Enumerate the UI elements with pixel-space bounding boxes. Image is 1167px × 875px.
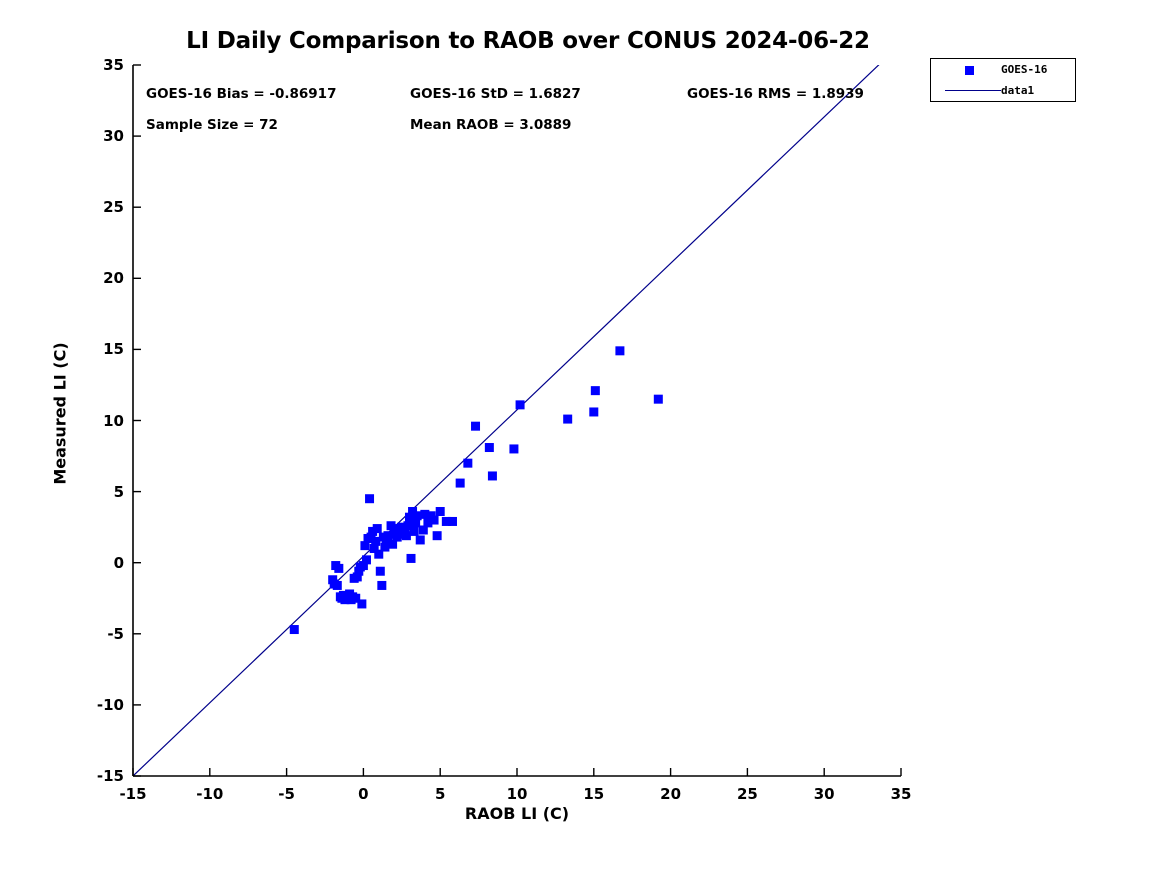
data-point[interactable] <box>433 531 442 540</box>
data-point[interactable] <box>456 479 465 488</box>
data-point[interactable] <box>413 511 422 520</box>
legend-line-icon <box>945 90 1001 91</box>
reference-line <box>133 44 901 776</box>
legend-sample <box>939 59 997 81</box>
x-tick-label: 5 <box>410 785 470 803</box>
legend-box[interactable]: GOES-16data1 <box>930 58 1076 102</box>
data-point[interactable] <box>471 422 480 431</box>
data-point[interactable] <box>516 400 525 409</box>
data-point[interactable] <box>615 346 624 355</box>
y-tick-label: 15 <box>64 340 124 358</box>
x-tick-label: 25 <box>717 785 777 803</box>
legend-entry-data1[interactable]: data1 <box>931 80 1077 102</box>
y-tick-label: 30 <box>64 127 124 145</box>
data-point[interactable] <box>334 564 343 573</box>
x-tick-label: -5 <box>257 785 317 803</box>
data-point[interactable] <box>371 537 380 546</box>
x-tick-label: 30 <box>794 785 854 803</box>
data-point[interactable] <box>589 407 598 416</box>
legend-square-marker-icon <box>965 66 974 75</box>
y-tick-label: -15 <box>64 767 124 785</box>
y-tick-label: 20 <box>64 269 124 287</box>
data-point[interactable] <box>373 524 382 533</box>
stat-rms: GOES-16 RMS = 1.8939 <box>687 86 864 102</box>
data-point[interactable] <box>591 386 600 395</box>
data-point[interactable] <box>376 567 385 576</box>
y-tick-label: 0 <box>64 554 124 572</box>
data-point[interactable] <box>402 531 411 540</box>
data-point[interactable] <box>463 459 472 468</box>
y-tick-label: -10 <box>64 696 124 714</box>
data-point[interactable] <box>654 395 663 404</box>
x-tick-label: -10 <box>180 785 240 803</box>
plot-area[interactable] <box>133 65 901 776</box>
y-tick-label: -5 <box>64 625 124 643</box>
data-point[interactable] <box>485 443 494 452</box>
data-point[interactable] <box>365 494 374 503</box>
data-point[interactable] <box>416 535 425 544</box>
x-tick-label: 35 <box>871 785 931 803</box>
x-tick-label: 20 <box>641 785 701 803</box>
series-goes-16 <box>290 346 663 634</box>
reference-line-group <box>133 44 901 776</box>
y-tick-label: 25 <box>64 198 124 216</box>
y-tick-label: 10 <box>64 412 124 430</box>
legend-label: data1 <box>1001 84 1034 97</box>
data-point[interactable] <box>509 444 518 453</box>
x-tick-label: 15 <box>564 785 624 803</box>
data-point[interactable] <box>333 581 342 590</box>
x-tick-label: -15 <box>103 785 163 803</box>
data-point[interactable] <box>563 415 572 424</box>
data-point[interactable] <box>377 581 386 590</box>
stat-mean-raob: Mean RAOB = 3.0889 <box>410 117 571 133</box>
figure-canvas: LI Daily Comparison to RAOB over CONUS 2… <box>0 0 1167 875</box>
data-point[interactable] <box>448 517 457 526</box>
stat-sample-size: Sample Size = 72 <box>146 117 278 133</box>
data-point[interactable] <box>436 507 445 516</box>
data-point[interactable] <box>410 527 419 536</box>
page-title: LI Daily Comparison to RAOB over CONUS 2… <box>133 28 923 54</box>
tick-marks <box>133 65 901 776</box>
y-tick-label: 35 <box>64 56 124 74</box>
data-point[interactable] <box>362 555 371 564</box>
data-point[interactable] <box>357 599 366 608</box>
x-tick-label: 0 <box>333 785 393 803</box>
stat-std: GOES-16 StD = 1.6827 <box>410 86 581 102</box>
axis-lines <box>133 65 901 776</box>
data-point[interactable] <box>430 516 439 525</box>
x-axis-label: RAOB LI (C) <box>133 804 901 823</box>
data-point[interactable] <box>488 471 497 480</box>
legend-entry-goes-16[interactable]: GOES-16 <box>931 59 1077 81</box>
x-tick-label: 10 <box>487 785 547 803</box>
legend-sample <box>939 80 997 102</box>
plot-svg <box>133 65 901 776</box>
data-point[interactable] <box>407 554 416 563</box>
data-point[interactable] <box>290 625 299 634</box>
stat-bias: GOES-16 Bias = -0.86917 <box>146 86 336 102</box>
y-tick-label: 5 <box>64 483 124 501</box>
legend-label: GOES-16 <box>1001 63 1047 76</box>
